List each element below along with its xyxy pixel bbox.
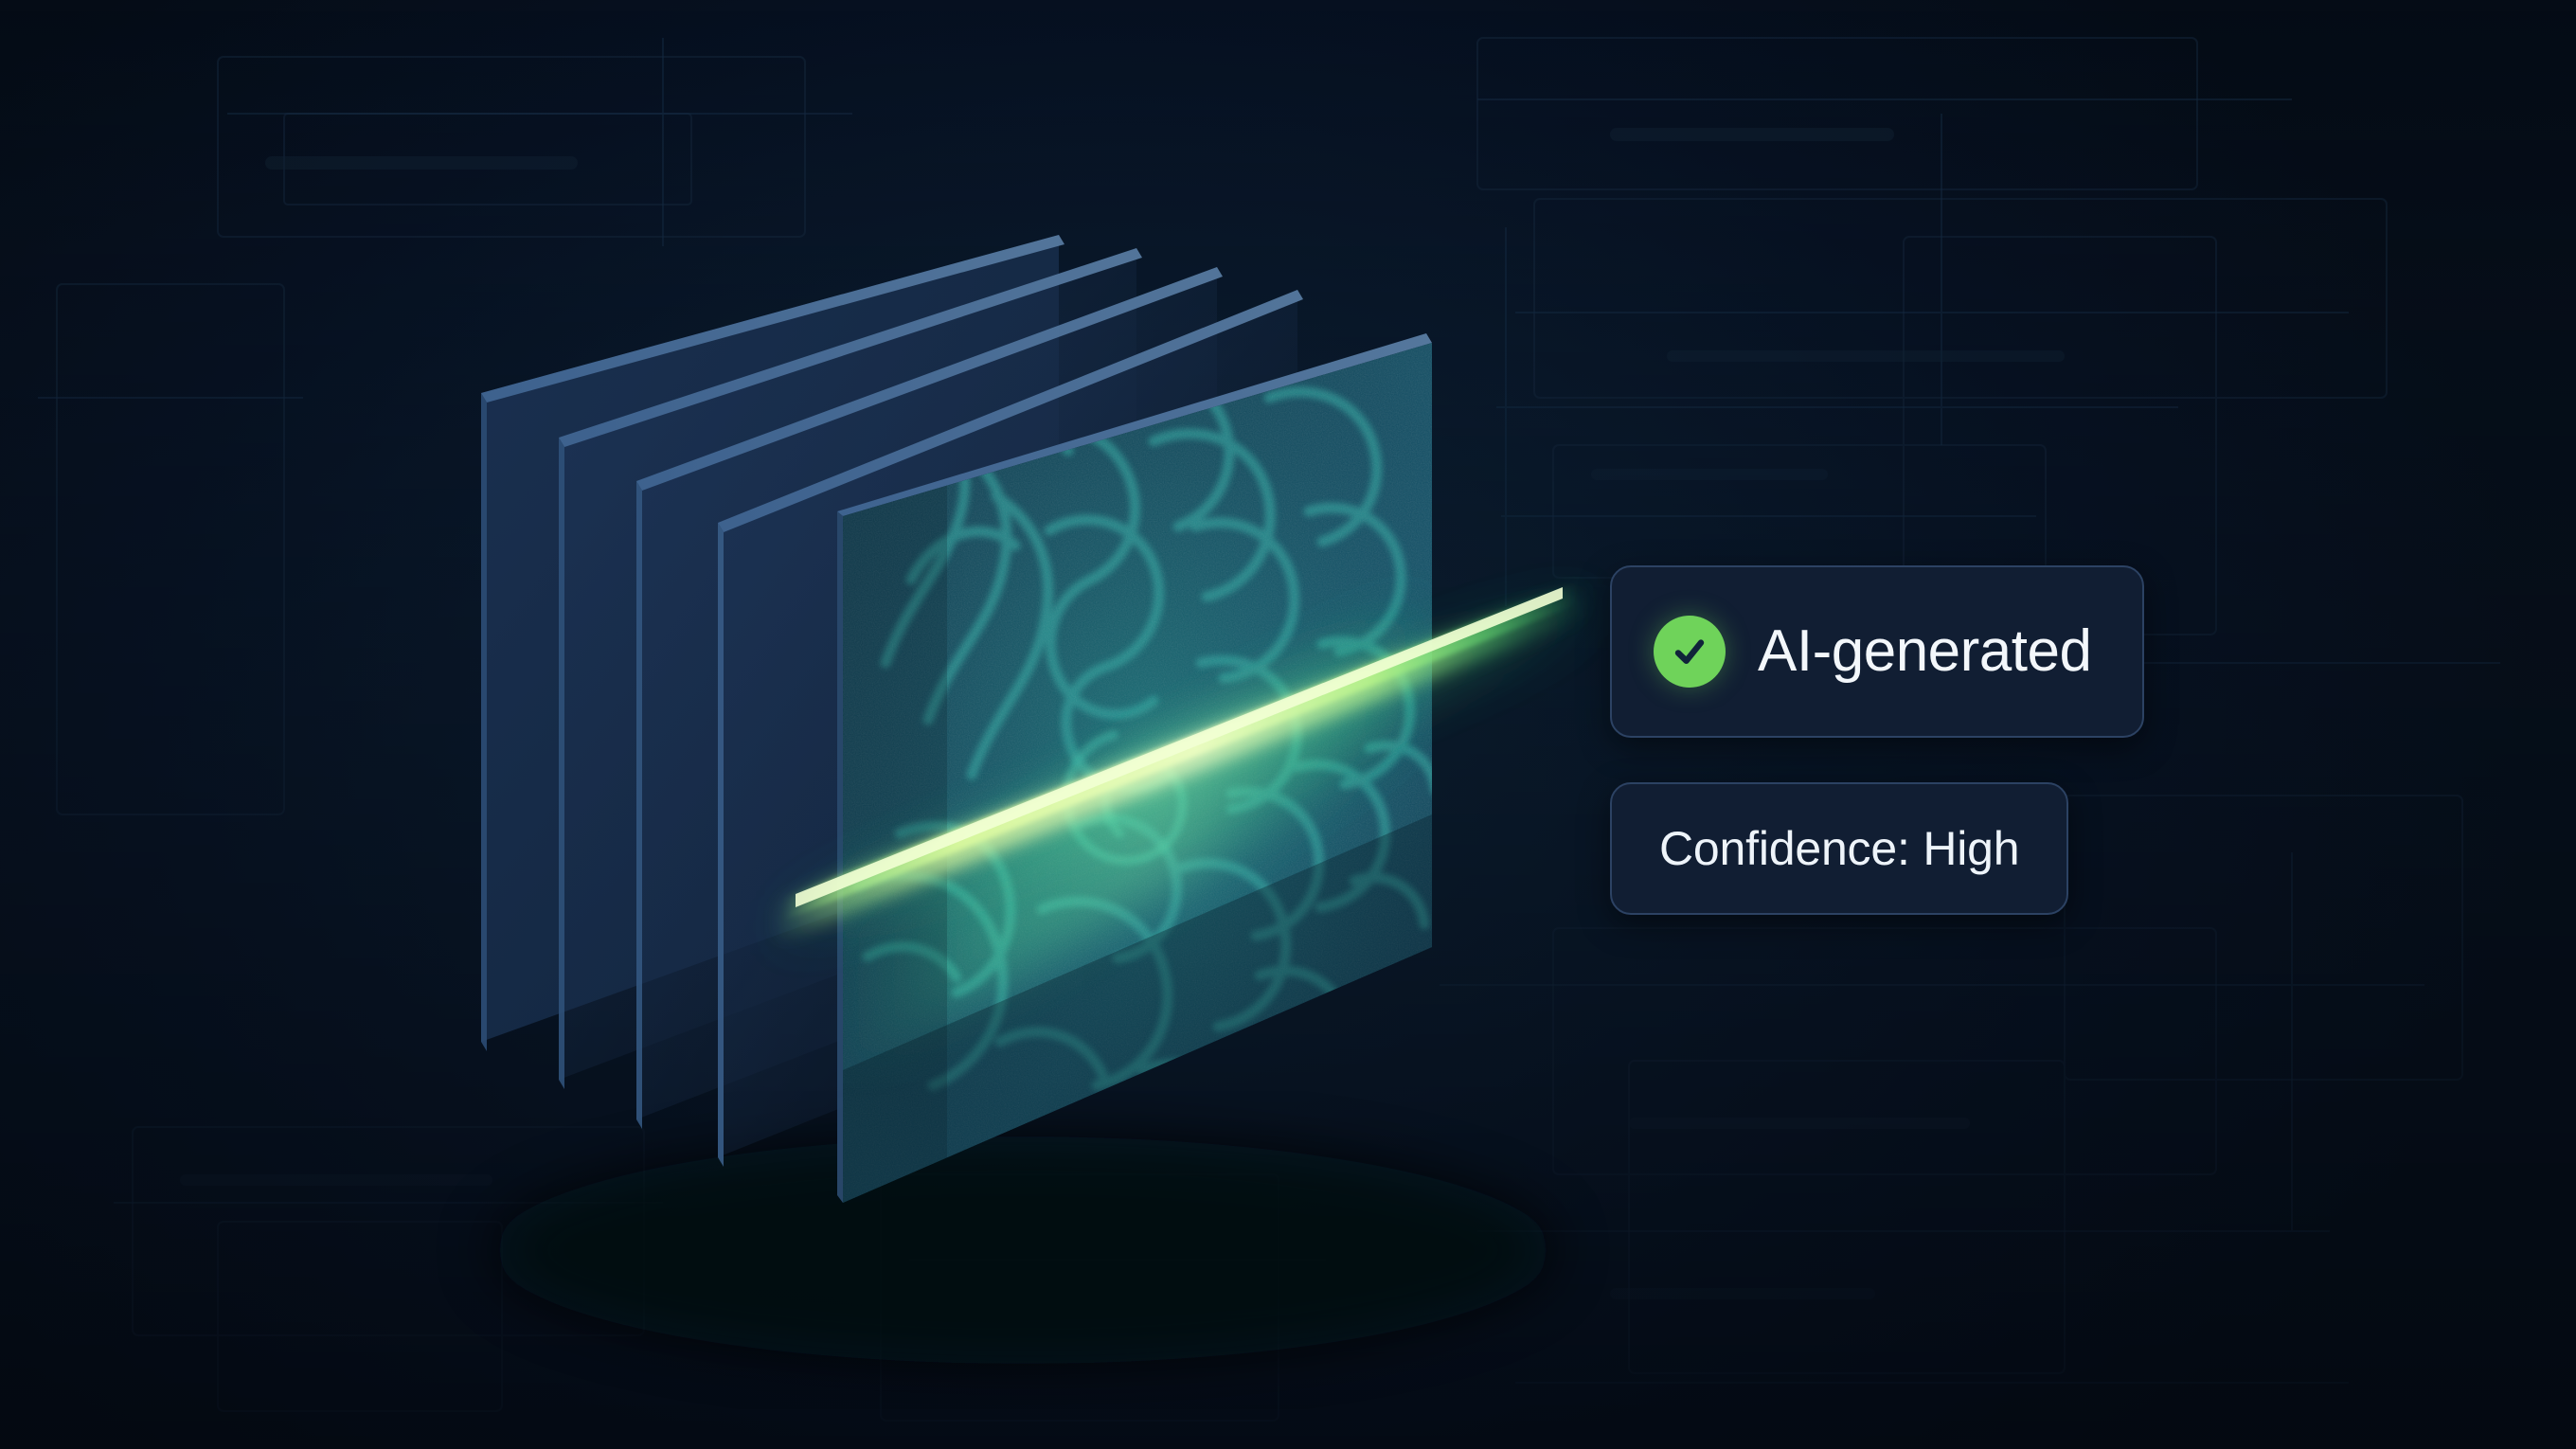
front-panel-side-edge (837, 511, 843, 1203)
check-circle-icon (1654, 616, 1726, 688)
stack-shadow (492, 1136, 1553, 1364)
layered-panels-illustration (0, 0, 2576, 1449)
detection-result-stack: AI-generated Confidence: High (1610, 565, 2144, 915)
confidence-badge[interactable]: Confidence: High (1610, 782, 2068, 915)
scene-canvas: AI-generated Confidence: High (0, 0, 2576, 1449)
verdict-label: AI-generated (1758, 622, 2091, 681)
confidence-label: Confidence: High (1659, 825, 2019, 872)
verdict-badge[interactable]: AI-generated (1610, 565, 2144, 738)
